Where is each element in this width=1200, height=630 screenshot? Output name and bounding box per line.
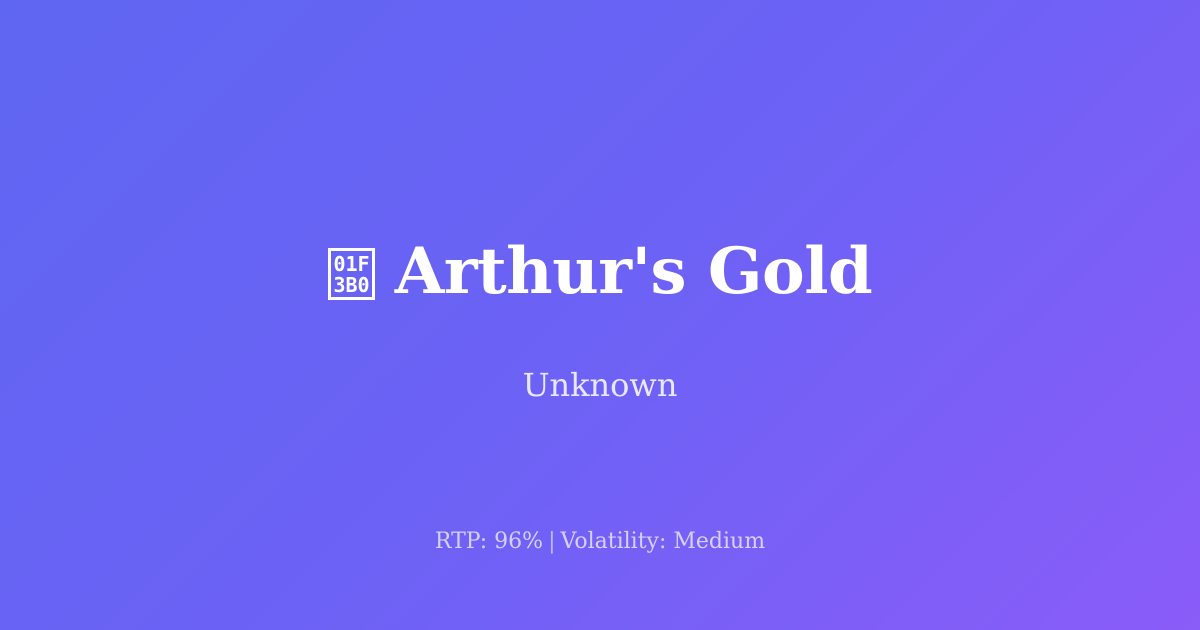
volatility-stat: Volatility: Medium bbox=[561, 529, 766, 554]
game-share-card: 01F 3B0 Arthur's Gold Unknown RTP: 96%|V… bbox=[0, 0, 1200, 630]
page-title: Arthur's Gold bbox=[395, 240, 873, 304]
provider-label: Unknown bbox=[0, 366, 1200, 404]
tofu-hex-bottom: 3B0 bbox=[333, 273, 369, 297]
stat-separator: | bbox=[543, 529, 560, 554]
title-row: 01F 3B0 Arthur's Gold bbox=[0, 230, 1200, 314]
rtp-stat: RTP: 96% bbox=[435, 529, 543, 554]
game-stats: RTP: 96%|Volatility: Medium bbox=[0, 528, 1200, 556]
slot-machine-icon: 01F 3B0 bbox=[328, 248, 375, 300]
